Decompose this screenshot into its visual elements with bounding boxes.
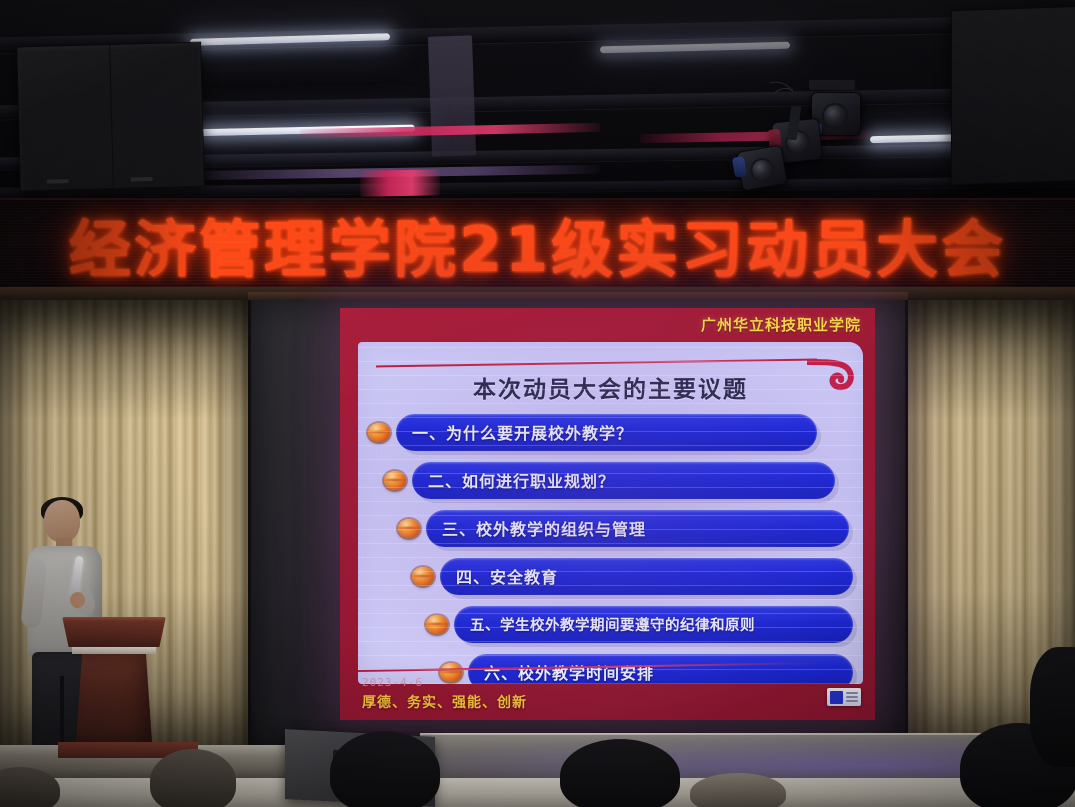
audience-head: [690, 773, 786, 807]
ceiling-truss-area: [0, 0, 1075, 212]
fluorescent-tube: [600, 42, 790, 54]
stage-lighting-rig: [735, 86, 875, 206]
slide-school-name: 广州华立科技职业学院: [701, 314, 861, 335]
loudspeaker-cabinet: [951, 6, 1075, 186]
agenda-row: 三、校外教学的组织与管理: [368, 504, 853, 552]
orange-sphere-icon: [412, 567, 434, 586]
slide-title: 本次动员大会的主要议题: [358, 370, 863, 404]
orange-sphere-icon: [426, 615, 448, 634]
auditorium-photo: 经济管理学院21级实习动员大会 广州华立科技职业学院 本次动员大会的主要议题: [0, 0, 1075, 807]
slide-motto: 厚德、务实、强能、创新: [362, 692, 527, 712]
agenda-item-label: 四、安全教育: [456, 564, 558, 588]
agenda-pill: 五、学生校外教学期间要遵守的纪律和原则: [454, 606, 853, 643]
slide-date: 2023-4-6: [362, 676, 423, 689]
orange-sphere-icon: [384, 471, 406, 490]
loudspeaker-cabinet: [16, 42, 205, 192]
agenda-pill: 四、安全教育: [440, 558, 853, 595]
slide-corner-badge-icon: [827, 688, 861, 706]
led-banner: 经济管理学院21级实习动员大会: [0, 198, 1075, 290]
agenda-item-label: 一、为什么要开展校外教学？: [412, 420, 633, 444]
agenda-row: 二、如何进行职业规划？: [368, 456, 853, 504]
presenter-hand: [70, 592, 85, 608]
slide-body: 本次动员大会的主要议题 一、为什么要开展校外教学？ 二、如何进行职业规划？: [358, 342, 863, 684]
orange-sphere-icon: [368, 423, 390, 442]
audience-head: [560, 739, 680, 807]
orange-sphere-icon: [398, 519, 420, 538]
agenda-item-label: 三、校外教学的组织与管理: [442, 516, 646, 540]
agenda-pill: 一、为什么要开展校外教学？: [396, 414, 817, 451]
slide-top-rule: [376, 359, 817, 368]
ceiling-duct: [428, 35, 476, 156]
stage-light-spill: [360, 169, 440, 196]
agenda-pill: 三、校外教学的组织与管理: [426, 510, 849, 547]
audience-shoulder: [1030, 647, 1075, 767]
agenda-pill: 二、如何进行职业规划？: [412, 462, 835, 499]
slide-header: 广州华立科技职业学院: [340, 308, 875, 344]
projected-slide: 广州华立科技职业学院 本次动员大会的主要议题 一、为什么要开展校外教学？: [340, 308, 875, 720]
slide-footer: 2023-4-6 厚德、务实、强能、创新: [340, 680, 875, 720]
audience-head: [150, 749, 236, 807]
orange-sphere-icon: [440, 663, 462, 682]
slide-agenda-list: 一、为什么要开展校外教学？ 二、如何进行职业规划？ 三、校外教学的组织与管理: [368, 408, 853, 664]
agenda-row: 四、安全教育: [368, 552, 853, 600]
agenda-row: 一、为什么要开展校外教学？: [368, 408, 853, 456]
banner-shading: [0, 200, 1075, 287]
agenda-item-label: 五、学生校外教学期间要遵守的纪律和原则: [470, 614, 755, 635]
audience-head: [330, 731, 440, 807]
presenter-head: [44, 500, 80, 542]
agenda-item-label: 二、如何进行职业规划？: [428, 468, 615, 492]
moving-head-light: [736, 144, 788, 191]
agenda-row: 五、学生校外教学期间要遵守的纪律和原则: [368, 600, 853, 648]
light-yoke: [809, 80, 855, 90]
